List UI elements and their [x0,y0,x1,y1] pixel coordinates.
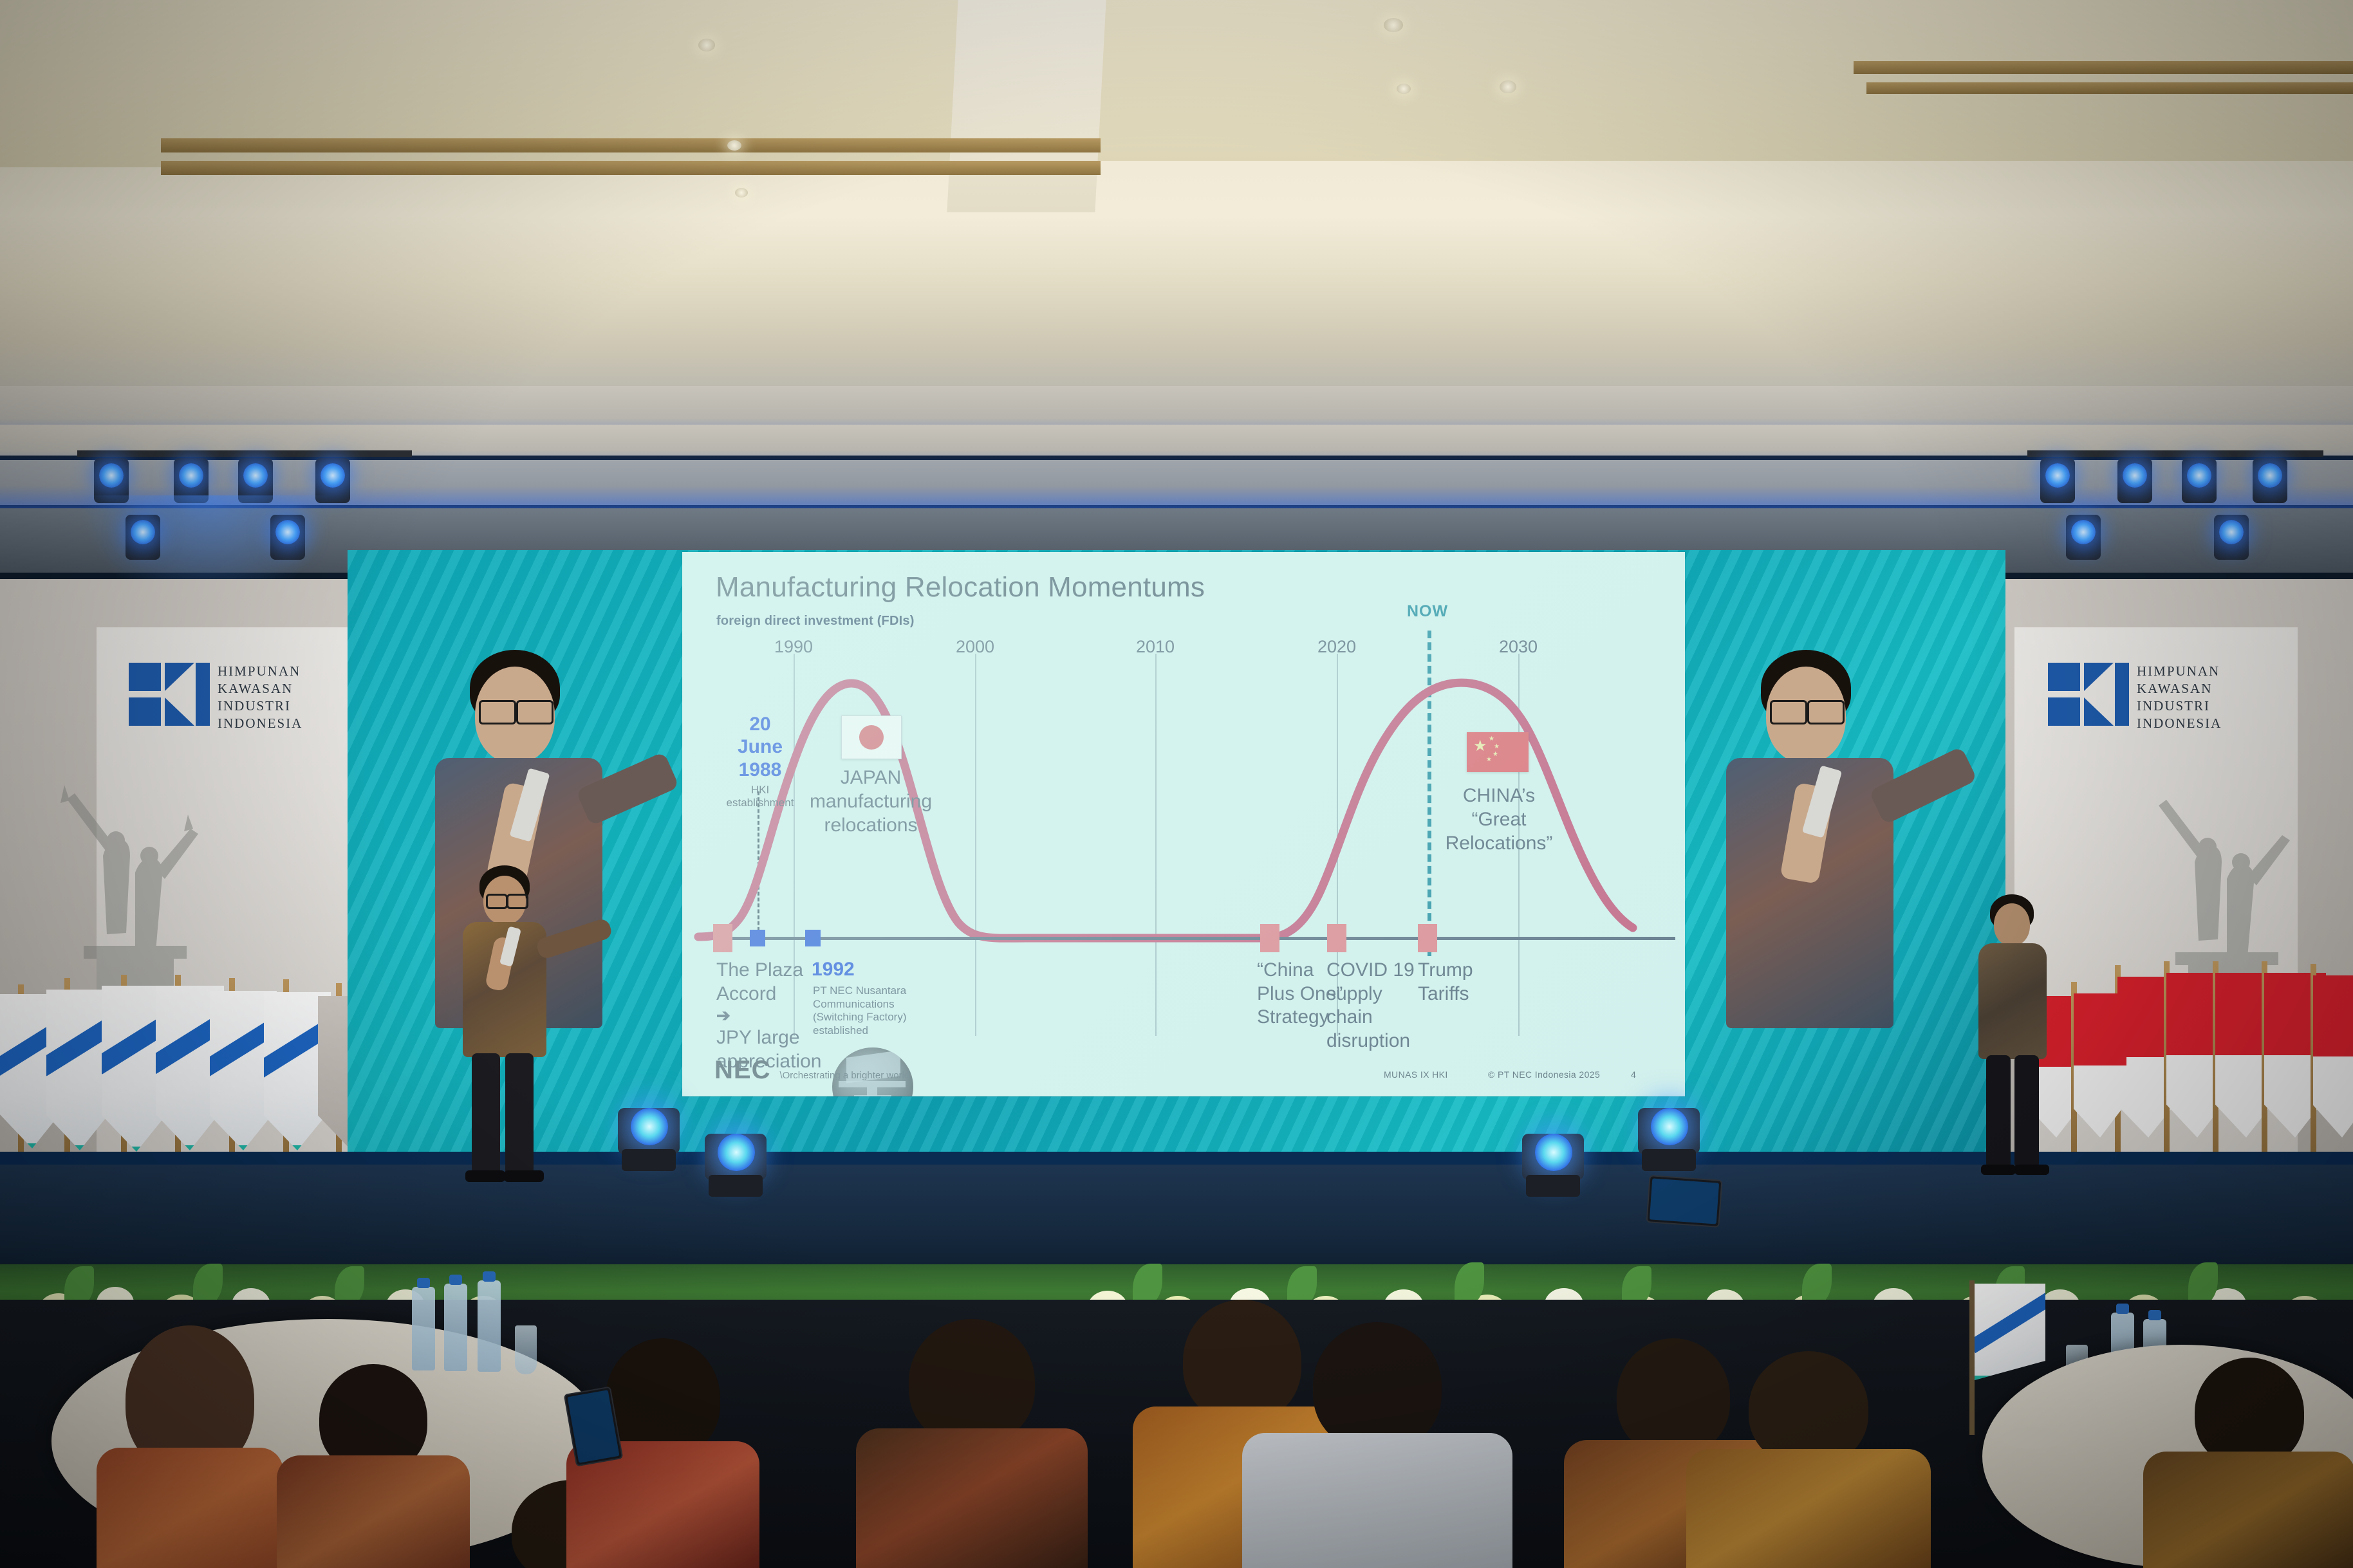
annotation-nec-1992: PT NEC Nusantara Communications (Switchi… [813,984,935,1038]
ceiling-wood-trim-right-2 [1866,82,2353,94]
par-light-right-2 [2117,458,2152,503]
nec-wordmark: NEC [714,1056,770,1085]
smartphone-recording[interactable] [1646,1175,1723,1228]
marker-nec-1992 [805,930,821,946]
audience-member [1686,1351,1931,1568]
audience-member [97,1325,283,1568]
recessed-light-icon [1397,84,1411,94]
par-light-right-6 [2214,515,2249,560]
slide-subtitle: foreign direct investment (FDIs) [716,614,915,629]
marker-hki-1988 [750,930,765,946]
nec-tagline: \Orchestrating a brighter world [779,1070,909,1081]
annotation-covid19: COVID 19 supply chain disruption [1326,959,1429,1053]
annotation-trump-tariffs: Trump Tariffs [1418,959,1514,1006]
recessed-light-icon [1500,80,1516,93]
japan-flag-icon [841,715,902,759]
stage-crew-person [1950,894,2072,1190]
nec-logo-footer: NEC \Orchestrating a brighter world [714,1056,909,1085]
plate [2002,1427,2063,1449]
timeline-baseline [718,937,1675,940]
moving-head-light-1 [618,1094,680,1171]
recessed-light-icon [698,39,715,51]
marker-china-plus-one [1260,924,1279,952]
par-light-left-6 [270,515,305,560]
par-light-right-4 [2253,458,2287,503]
hki-logo-text-right: HIMPUNAN KAWASAN INDUSTRI INDONESIA [2137,663,2222,732]
moving-head-light-4 [1638,1094,1700,1171]
china-flag-icon: ★ ★ ★ ★ ★ [1467,732,1529,772]
audience-member [2143,1358,2353,1568]
recessed-light-icon [1384,18,1403,32]
hki-logo-text-left: HIMPUNAN KAWASAN INDUSTRI INDONESIA [218,663,302,732]
par-light-right-1 [2040,458,2075,503]
marker-covid19 [1327,924,1346,952]
now-label: NOW [1407,602,1448,621]
audience-member [277,1364,470,1568]
recessed-light-icon [735,188,748,198]
hki-caption-1: HKI [721,784,799,797]
annotation-japan: JAPAN manufacturing relocations [797,766,945,838]
water-bottle [412,1287,435,1370]
ceiling-wood-trim-right [1854,61,2353,74]
speaker-video-right [1684,650,1967,1139]
slide-title: Manufacturing Relocation Momentums [716,571,1205,604]
conference-room-scene: HIMPUNAN KAWASAN INDUSTRI INDONESIA [0,0,2353,1568]
marker-plaza-accord [713,924,732,952]
audience-member [856,1319,1088,1568]
slide-page-number: 4 [1631,1069,1636,1080]
ceiling-panel-right [1081,0,2353,161]
moving-head-light-3 [1522,1120,1584,1197]
water-bottle [444,1284,467,1371]
slide-footer-event: MUNAS IX HKI [1384,1069,1448,1080]
presentation-slide: Manufacturing Relocation Momentums forei… [682,552,1685,1096]
ceiling-beam-center [947,0,1106,212]
hki-caption-2: establishment [721,797,799,809]
audience-member [1242,1322,1512,1568]
recessed-light-icon [727,140,741,151]
annotation-hki-date: 20 June 1988 HKI establishment [721,713,799,809]
par-light-right-5 [2066,515,2101,560]
moving-head-light-2 [705,1120,767,1197]
par-light-right-3 [2182,458,2217,503]
presenter-on-stage [428,865,576,1187]
truss-right [2027,450,2323,457]
hki-logo-left: HIMPUNAN KAWASAN INDUSTRI INDONESIA [129,663,302,732]
chart-plot-area: 1990 2000 2010 2020 2030 NOW [718,637,1651,1036]
marker-trump-tariffs [1418,924,1437,952]
par-light-left-5 [126,515,160,560]
truss-left [77,450,412,457]
ceiling-wood-trim-left [161,138,1101,152]
hki-logo-mark-icon [2048,663,2125,732]
water-glass [515,1325,537,1374]
annotation-china-relocations: CHINA’s “Great Relocations” [1415,784,1583,856]
water-bottle [478,1280,501,1372]
hki-logo-mark-icon [129,663,206,732]
slide-footer-copyright: © PT NEC Indonesia 2025 [1488,1069,1600,1080]
hki-logo-right: HIMPUNAN KAWASAN INDUSTRI INDONESIA [2048,663,2222,732]
annotation-1992-year: 1992 [812,959,855,981]
ceiling-wood-trim-left-2 [161,161,1101,175]
